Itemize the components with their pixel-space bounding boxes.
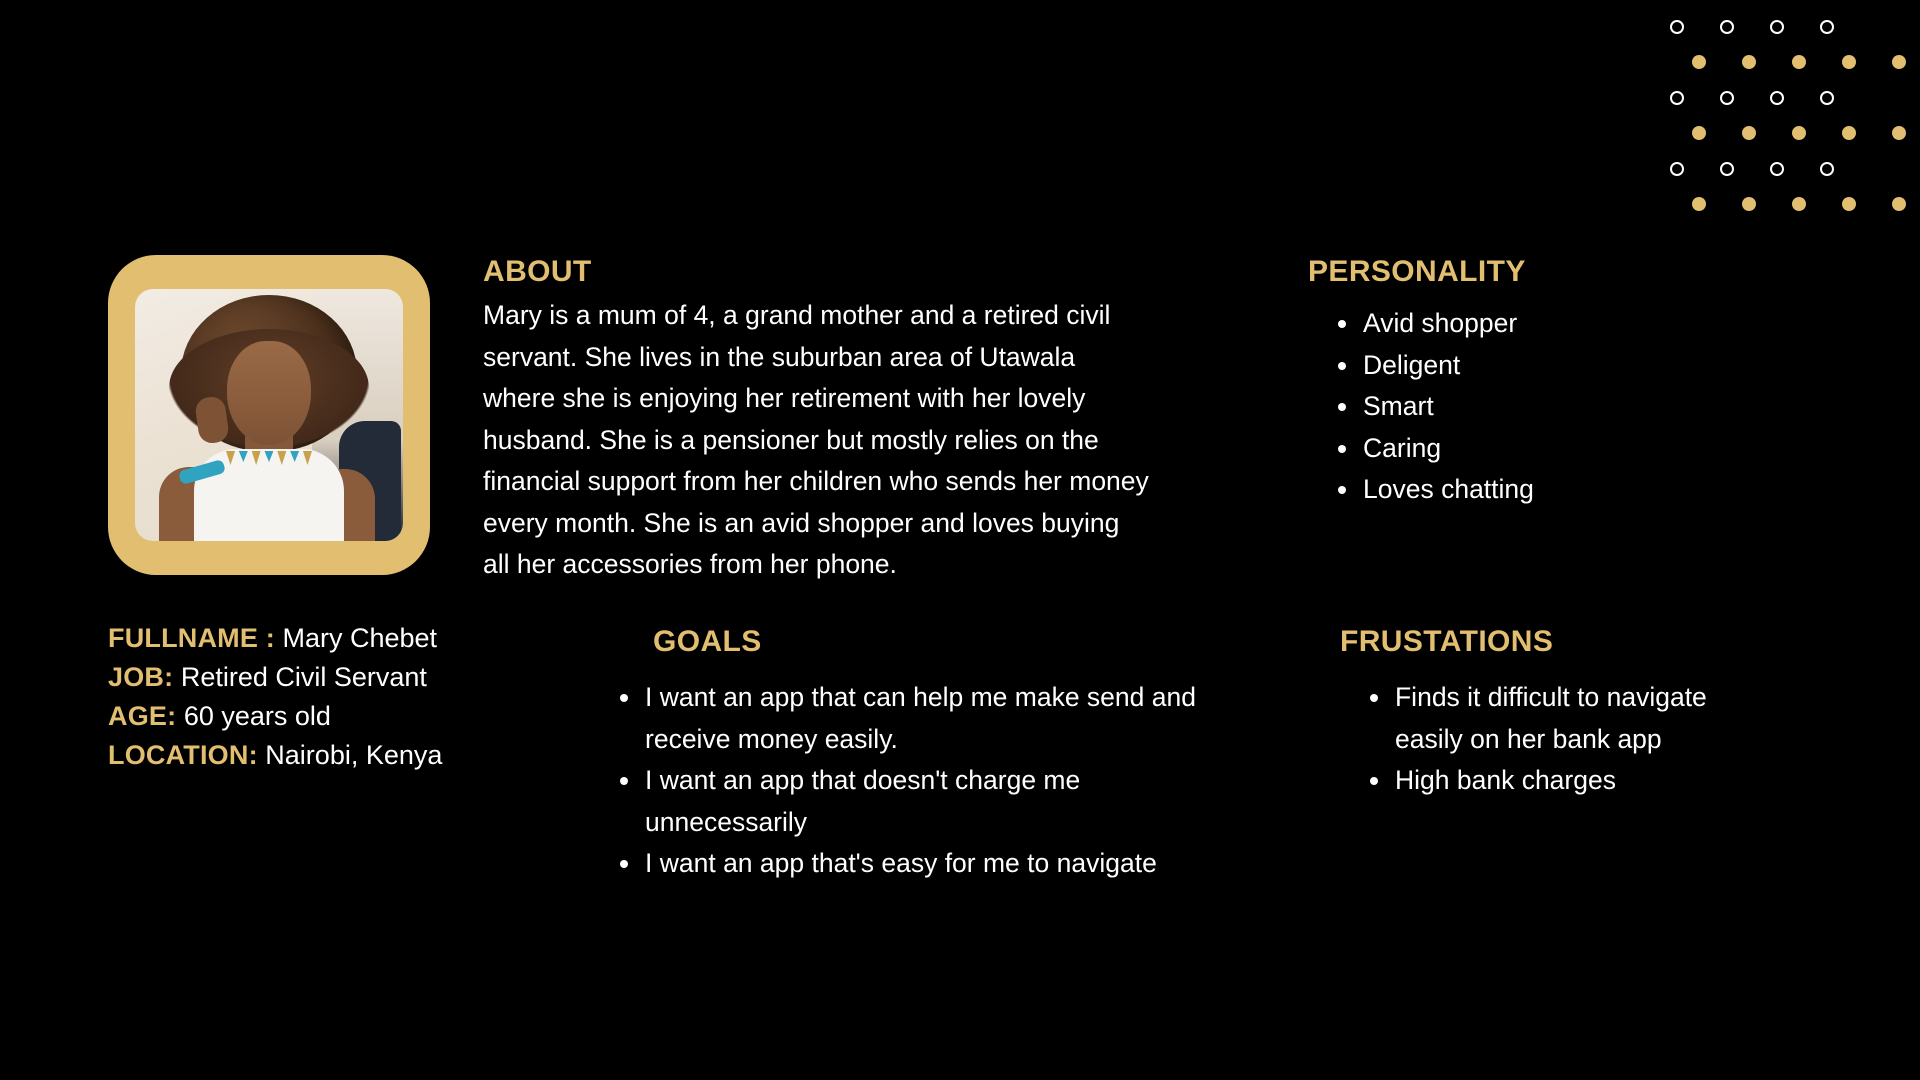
- dot-row: [1670, 91, 1834, 105]
- goal-list-item: I want an app that doesn't charge me unn…: [612, 760, 1212, 843]
- detail-value-age: 60 years old: [184, 701, 331, 731]
- detail-value-job: Retired Civil Servant: [181, 662, 427, 692]
- hollow-dot-icon: [1770, 20, 1784, 34]
- hollow-dot-icon: [1770, 162, 1784, 176]
- solid-dot-icon: [1842, 55, 1856, 69]
- dot-row: [1692, 55, 1906, 69]
- dot-row: [1692, 126, 1906, 140]
- solid-dot-icon: [1792, 55, 1806, 69]
- about-section: ABOUT Mary is a mum of 4, a grand mother…: [483, 255, 1173, 586]
- hollow-dot-icon: [1670, 20, 1684, 34]
- detail-row-fullname: FULLNAME : Mary Chebet: [108, 619, 508, 658]
- persona-board: FULLNAME : Mary Chebet JOB: Retired Civi…: [0, 0, 1920, 1080]
- hollow-dot-icon: [1820, 20, 1834, 34]
- about-text: Mary is a mum of 4, a grand mother and a…: [483, 295, 1153, 586]
- solid-dot-icon: [1792, 197, 1806, 211]
- profile-column: FULLNAME : Mary Chebet JOB: Retired Civi…: [108, 255, 508, 775]
- hollow-dot-icon: [1720, 162, 1734, 176]
- frustations-section: FRUSTATIONS Finds it difficult to naviga…: [1340, 625, 1800, 802]
- solid-dot-icon: [1742, 197, 1756, 211]
- detail-row-age: AGE: 60 years old: [108, 697, 508, 736]
- detail-label-job: JOB:: [108, 662, 173, 692]
- dot-row: [1670, 20, 1834, 34]
- frustations-list: Finds it difficult to navigate easily on…: [1362, 677, 1732, 802]
- personality-list-item: Deligent: [1330, 345, 1768, 387]
- personality-list-item: Smart: [1330, 386, 1768, 428]
- goals-heading: GOALS: [653, 625, 1200, 659]
- frustation-list-item: High bank charges: [1362, 760, 1732, 802]
- frustations-heading: FRUSTATIONS: [1340, 625, 1800, 659]
- detail-label-fullname: FULLNAME :: [108, 623, 275, 653]
- dot-row: [1670, 162, 1834, 176]
- personality-list-item: Caring: [1330, 428, 1768, 470]
- detail-label-location: LOCATION:: [108, 740, 258, 770]
- goal-list-item: I want an app that's easy for me to navi…: [612, 843, 1212, 885]
- goals-section: GOALS I want an app that can help me mak…: [560, 625, 1200, 885]
- solid-dot-icon: [1892, 197, 1906, 211]
- solid-dot-icon: [1792, 126, 1806, 140]
- hollow-dot-icon: [1670, 162, 1684, 176]
- detail-row-location: LOCATION: Nairobi, Kenya: [108, 736, 508, 775]
- solid-dot-icon: [1742, 126, 1756, 140]
- avatar-frame: [108, 255, 430, 575]
- hollow-dot-icon: [1720, 20, 1734, 34]
- frustation-list-item: Finds it difficult to navigate easily on…: [1362, 677, 1732, 760]
- dot-grid-pattern: [1670, 0, 1920, 224]
- solid-dot-icon: [1692, 55, 1706, 69]
- profile-details: FULLNAME : Mary Chebet JOB: Retired Civi…: [108, 619, 508, 775]
- detail-label-age: AGE:: [108, 701, 176, 731]
- personality-heading: PERSONALITY: [1308, 255, 1768, 289]
- personality-section: PERSONALITY Avid shopperDeligentSmartCar…: [1308, 255, 1768, 511]
- hollow-dot-icon: [1820, 162, 1834, 176]
- dot-row: [1692, 197, 1906, 211]
- personality-list-item: Loves chatting: [1330, 469, 1768, 511]
- solid-dot-icon: [1892, 55, 1906, 69]
- hollow-dot-icon: [1670, 91, 1684, 105]
- solid-dot-icon: [1842, 197, 1856, 211]
- detail-value-fullname: Mary Chebet: [282, 623, 437, 653]
- solid-dot-icon: [1742, 55, 1756, 69]
- hollow-dot-icon: [1820, 91, 1834, 105]
- solid-dot-icon: [1692, 126, 1706, 140]
- personality-list-item: Avid shopper: [1330, 303, 1768, 345]
- about-heading: ABOUT: [483, 255, 1173, 289]
- solid-dot-icon: [1892, 126, 1906, 140]
- goal-list-item: I want an app that can help me make send…: [612, 677, 1212, 760]
- detail-row-job: JOB: Retired Civil Servant: [108, 658, 508, 697]
- personality-list: Avid shopperDeligentSmartCaringLoves cha…: [1330, 303, 1768, 511]
- solid-dot-icon: [1842, 126, 1856, 140]
- solid-dot-icon: [1692, 197, 1706, 211]
- avatar-photo: [135, 289, 403, 541]
- goals-list: I want an app that can help me make send…: [612, 677, 1212, 885]
- hollow-dot-icon: [1770, 91, 1784, 105]
- detail-value-location: Nairobi, Kenya: [265, 740, 442, 770]
- hollow-dot-icon: [1720, 91, 1734, 105]
